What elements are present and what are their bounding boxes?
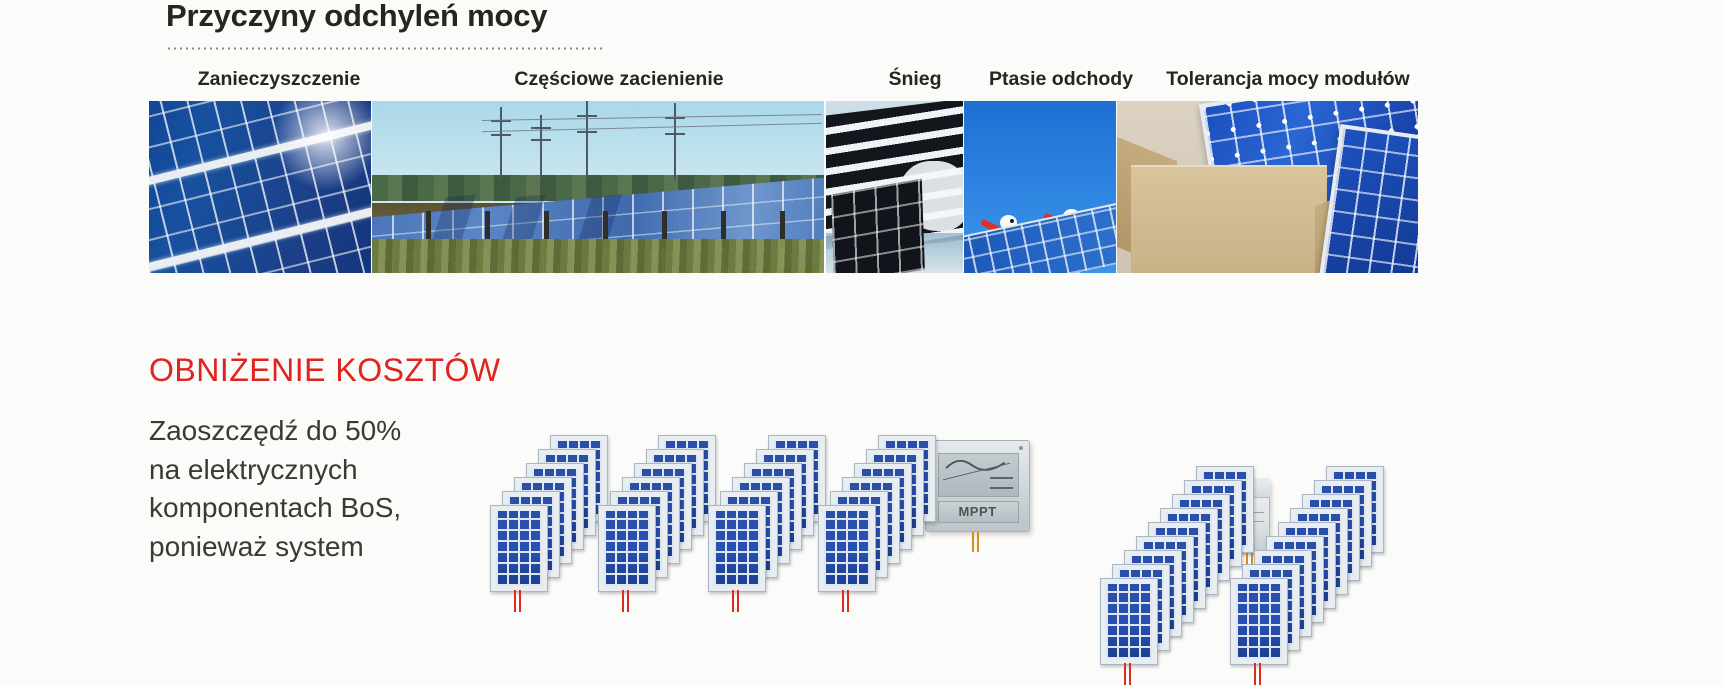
- module-leads: [513, 590, 523, 612]
- cause-label-pollution: Zanieczyszczenie: [166, 68, 392, 91]
- pv-module: [490, 505, 548, 592]
- module-leads: [1123, 663, 1133, 685]
- cause-labels-row: Zanieczyszczenie Częściowe zacienienie Ś…: [166, 68, 1566, 96]
- pv-module: [818, 505, 876, 592]
- module-leads: [621, 590, 631, 612]
- system-diagram: MPPT: [470, 360, 1720, 612]
- pv-module: [1100, 578, 1158, 665]
- cost-body-line-3: komponentach BoS,: [149, 489, 449, 528]
- storks-on-panels-photo: [964, 101, 1116, 273]
- central-inverter-mppt: MPPT: [925, 440, 1030, 532]
- cause-label-snow: Śnieg: [848, 68, 982, 91]
- inverter-label: MPPT: [925, 504, 1030, 519]
- modules-in-boxes-photo: [1117, 101, 1418, 273]
- soiled-solar-panels-photo: [149, 101, 371, 273]
- pv-module: [1230, 578, 1288, 665]
- cost-body-line-2: na elektrycznych: [149, 451, 449, 490]
- title-dotted-rule: [166, 47, 606, 50]
- module-leads: [731, 590, 741, 612]
- slide-root: Przyczyny odchyleń mocy Zanieczyszczenie…: [0, 0, 1723, 612]
- snow-covered-panels-photo: [826, 101, 963, 273]
- shaded-solar-array-photo: [372, 101, 824, 273]
- cause-label-power-tolerance: Tolerancja mocy modułów: [1138, 68, 1438, 91]
- cause-label-shading: Częściowe zacienienie: [394, 68, 844, 91]
- cost-section-body: Zaoszczędź do 50% na elektrycznych kompo…: [149, 412, 449, 566]
- module-leads: [1253, 663, 1263, 685]
- cost-section-heading: OBNIŻENIE KOSZTÓW: [149, 352, 501, 389]
- pv-module: [708, 505, 766, 592]
- module-leads: [841, 590, 851, 612]
- cost-body-line-4: ponieważ system: [149, 528, 449, 567]
- cost-body-line-1: Zaoszczędź do 50%: [149, 412, 449, 451]
- cause-label-bird-droppings: Ptasie odchody: [986, 68, 1136, 91]
- page-title: Przyczyny odchyleń mocy: [166, 0, 547, 34]
- pv-module: [598, 505, 656, 592]
